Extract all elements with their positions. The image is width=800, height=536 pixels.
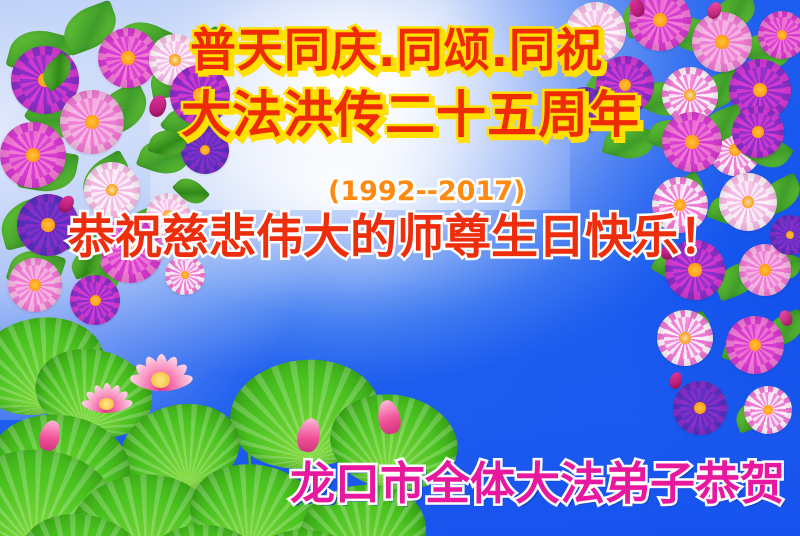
title-line2: 大法洪传二十五周年 [181,90,640,140]
signature-line: 龙口市全体大法弟子恭贺 [290,461,785,506]
peony-bloom [719,173,777,231]
peony-center [715,35,728,48]
peony-center [688,263,701,276]
peony-bloom [732,106,784,158]
peony-center [653,13,667,27]
peony-bloom [726,316,784,374]
peony-center [752,126,763,137]
peony-bloom [673,381,727,435]
right-flower-cascade [640,110,800,440]
greeting-line: 恭祝慈悲伟大的师尊生日快乐！ [68,214,726,261]
peony-center [29,279,41,291]
peony-bloom [662,112,722,172]
year-range: (1992--2017) [328,178,525,205]
lotus-flower-core [151,372,170,387]
title-line1: 普天同庆.同颂.同祝 [190,27,603,73]
peony-bloom [60,90,124,154]
peony-bloom [744,386,792,434]
peony-center [759,264,770,275]
peony-center [85,115,99,129]
greeting-card: 普天同庆.同颂.同祝 普天同庆.同颂.同祝 大法洪传二十五周年 大法洪传二十五周… [0,0,800,536]
peony-bloom [758,11,800,59]
peony-center [41,218,55,232]
peony-bloom [657,310,713,366]
peony-center [121,51,134,64]
lotus-flower [80,378,132,426]
peony-center [753,83,767,97]
peony-center [685,135,698,148]
lotus-flower [128,348,192,407]
peony-center [169,54,180,65]
peony-bloom [0,122,66,188]
peony-center [694,402,706,414]
